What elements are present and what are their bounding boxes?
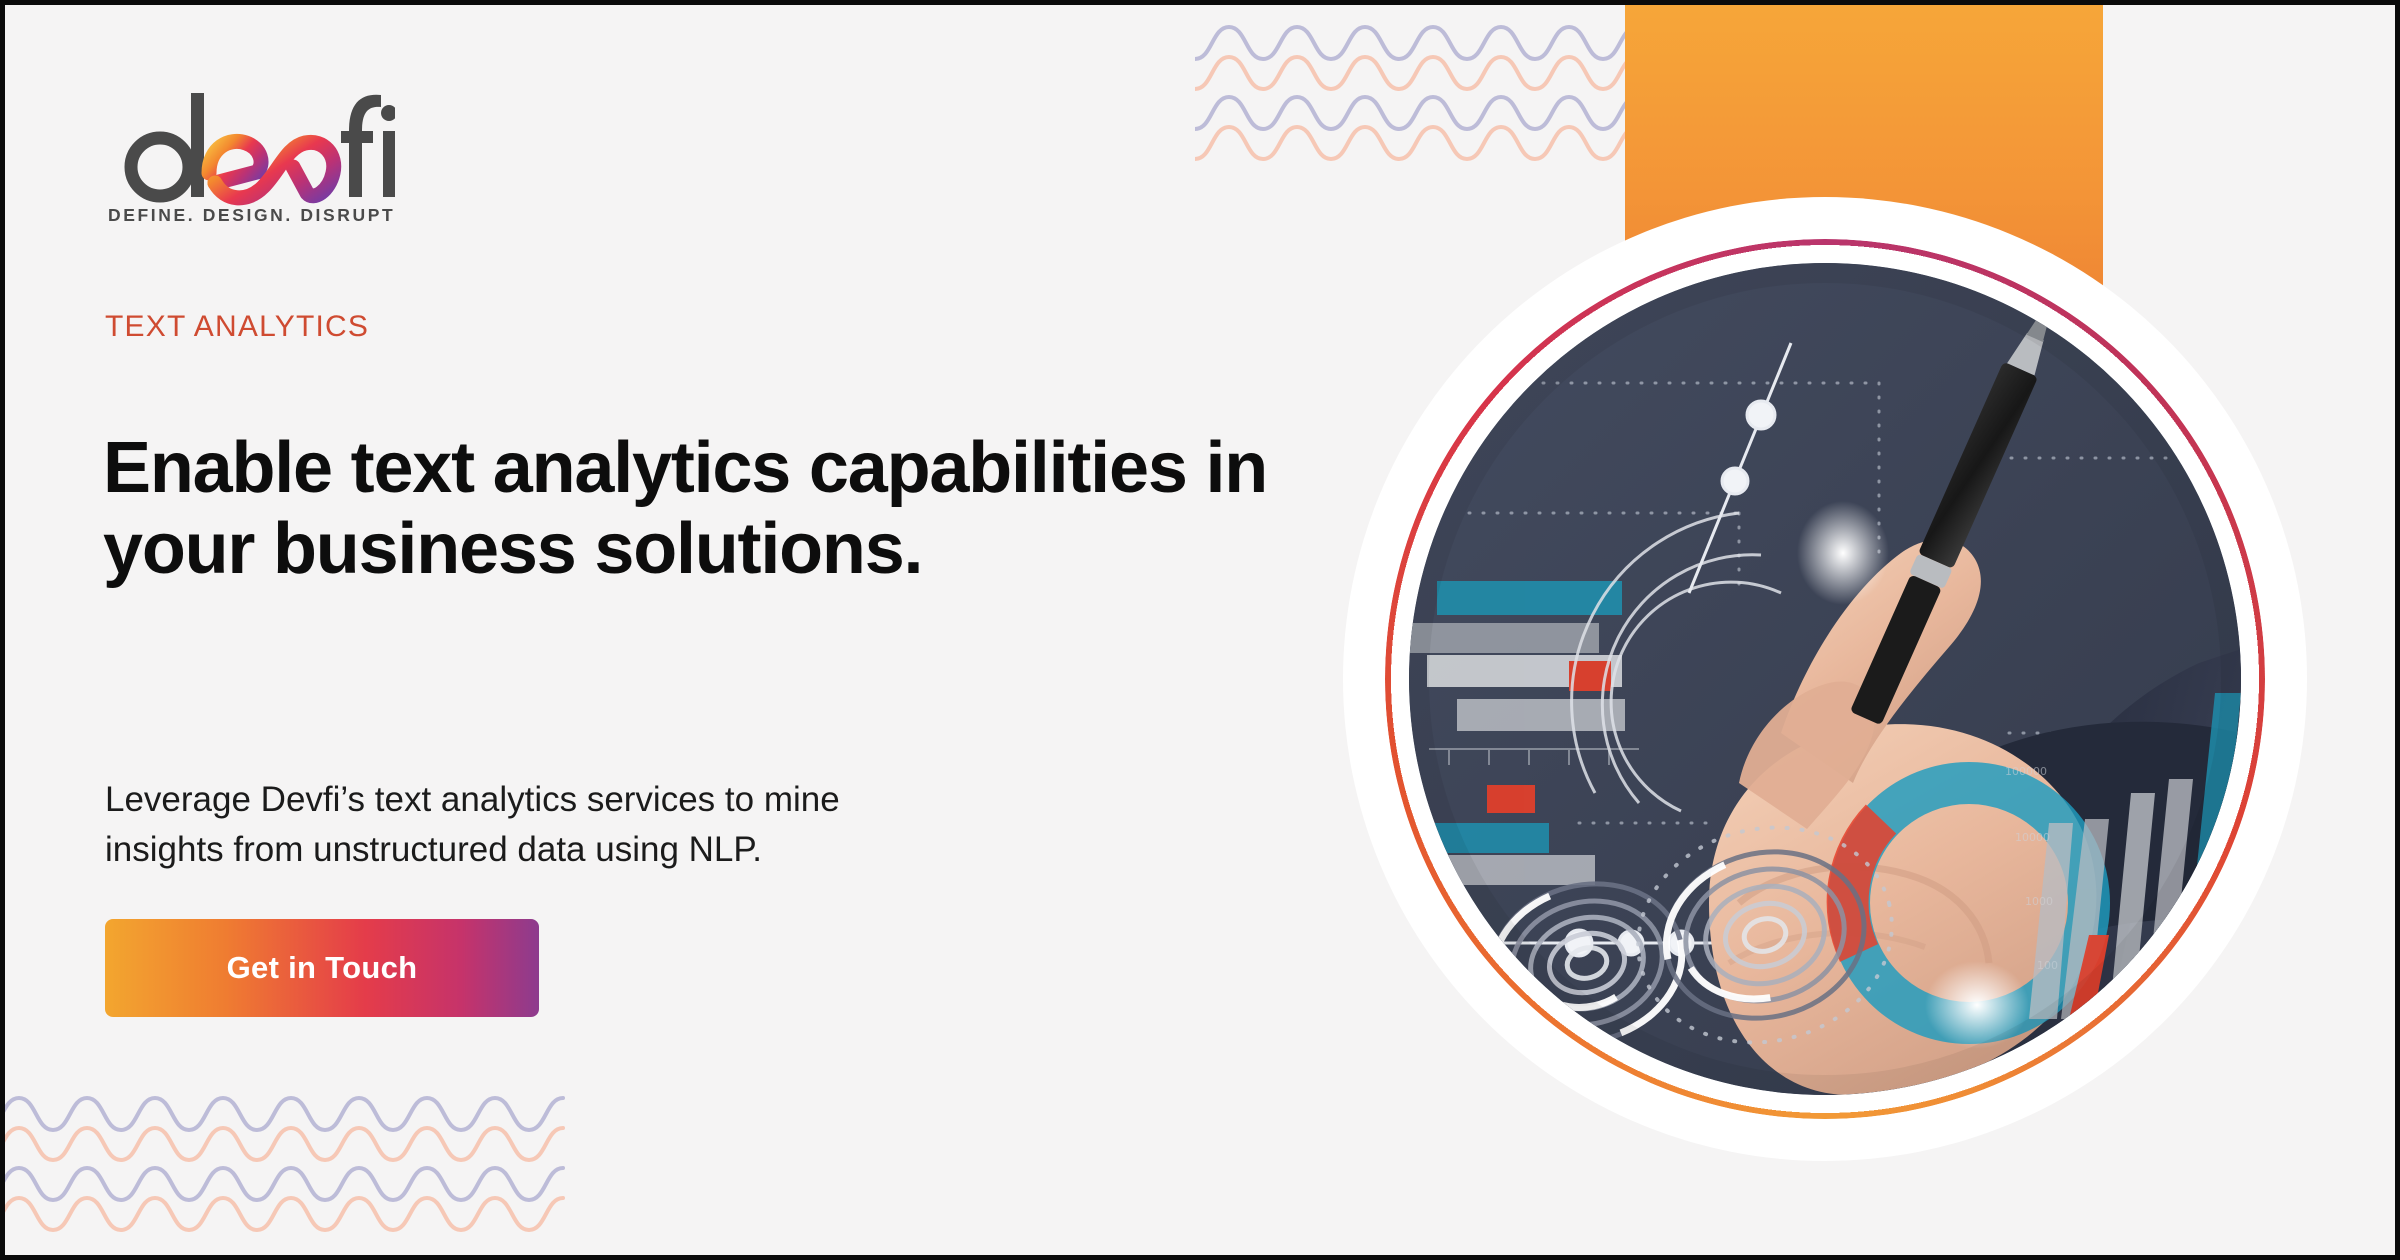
eyebrow-label: TEXT ANALYTICS	[105, 310, 369, 344]
svg-text:10000: 10000	[2015, 831, 2050, 844]
wavy-lines-pattern	[1195, 0, 1655, 189]
svg-text:100000: 100000	[2005, 765, 2047, 778]
wavy-lines-pattern	[0, 1080, 565, 1260]
svg-text:1000: 1000	[2025, 895, 2053, 908]
subheadline-line-1: Leverage Devfi’s text analytics services…	[105, 775, 1255, 825]
svg-text:100: 100	[2037, 959, 2058, 972]
subheadline-line-2: insights from unstructured data using NL…	[105, 825, 1255, 875]
hero-photo: 100000 10000 1000 100	[1409, 263, 2241, 1095]
subheadline: Leverage Devfi’s text analytics services…	[105, 775, 1255, 874]
logo-tagline: DEFINE. DESIGN. DISRUPT	[108, 205, 395, 226]
marketing-banner: 100000 10000 1000 100	[0, 0, 2400, 1260]
get-in-touch-button[interactable]: Get in Touch	[105, 919, 539, 1017]
devfi-logo[interactable]	[105, 85, 395, 215]
page-title: Enable text analytics capabilities in yo…	[103, 428, 1343, 589]
